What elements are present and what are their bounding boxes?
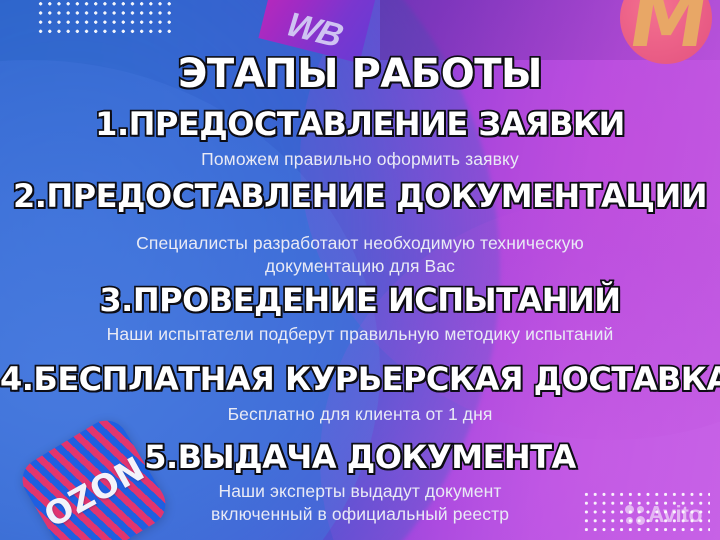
promo-poster: WB M OZON Avito ЭТАПЫ РАБОТЫ 1.ПРЕДОСТАВ… [0, 0, 720, 540]
step-1-description: Поможем правильно оформить заявку [0, 148, 720, 171]
step-5-heading: 5.ВЫДАЧА ДОКУМЕНТА [0, 441, 720, 473]
page-title: ЭТАПЫ РАБОТЫ [0, 54, 720, 94]
poster-content: ЭТАПЫ РАБОТЫ 1.ПРЕДОСТАВЛЕНИЕ ЗАЯВКИ Пом… [0, 0, 720, 540]
step-2-description: Специалисты разработают необходимую техн… [0, 232, 720, 278]
step-4-heading: 4.БЕСПЛАТНАЯ КУРЬЕРСКАЯ ДОСТАВКА [0, 363, 720, 395]
step-5-description: Наши эксперты выдадут документ включенны… [0, 480, 720, 526]
step-3-description: Наши испытатели подберут правильную мето… [0, 323, 720, 346]
step-4-description: Бесплатно для клиента от 1 дня [0, 403, 720, 426]
step-2-heading: 2.ПРЕДОСТАВЛЕНИЕ ДОКУМЕНТАЦИИ [0, 180, 720, 212]
step-1-heading: 1.ПРЕДОСТАВЛЕНИЕ ЗАЯВКИ [0, 108, 720, 140]
step-3-heading: 3.ПРОВЕДЕНИЕ ИСПЫТАНИЙ [0, 284, 720, 316]
